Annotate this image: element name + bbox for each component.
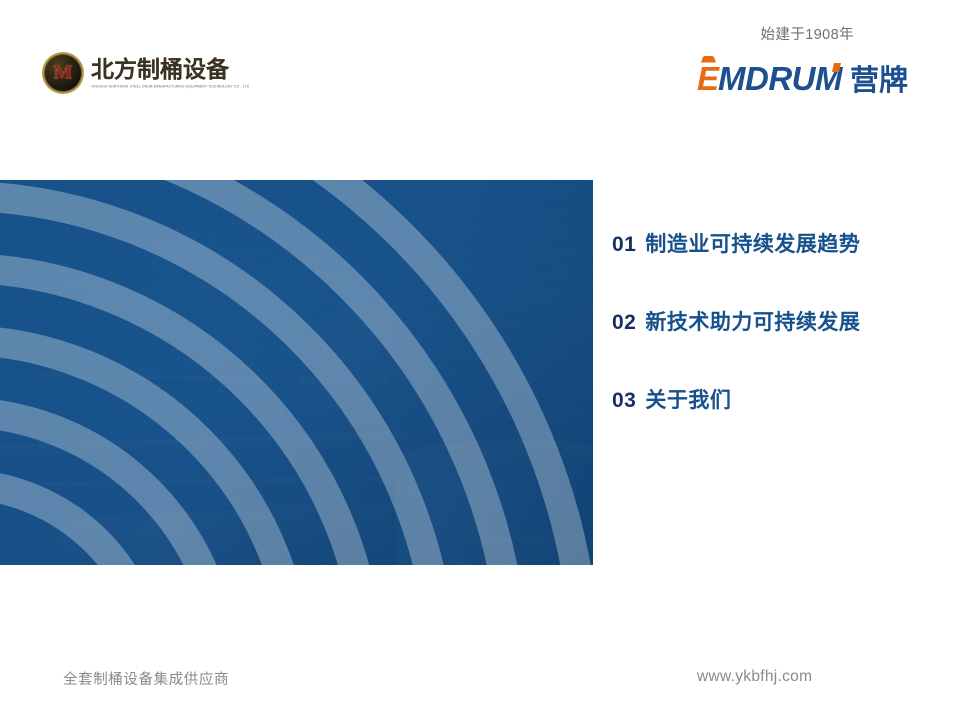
founded-tagline: 始建于1908年 [697,28,854,43]
north-drum-logo: 北方制桶设备 YINGKOU NORTHERN STEEL DRUM MANUF… [44,54,249,92]
agenda-number: 02 [612,311,636,335]
agenda-number: 01 [612,233,636,257]
agenda-number: 03 [612,389,636,413]
agenda-item-03[interactable]: 03 关于我们 [612,384,942,414]
emdrum-letter-m: M [815,62,842,95]
concentric-arcs-graphic [0,180,593,565]
emdrum-letters-mdru: MDRU [718,62,815,95]
slide-header: 北方制桶设备 YINGKOU NORTHERN STEEL DRUM MANUF… [0,0,960,125]
agenda-item-02[interactable]: 02 新技术助力可持续发展 [612,306,942,336]
north-drum-logo-text: 北方制桶设备 YINGKOU NORTHERN STEEL DRUM MANUF… [91,58,249,88]
north-drum-name-en: YINGKOU NORTHERN STEEL DRUM MANUFACTURIN… [91,84,249,89]
footer-slogan: 全套制桶设备集成供应商 [63,668,229,689]
agenda-label: 关于我们 [645,384,731,414]
drum-cap-icon [701,56,716,63]
agenda-label: 制造业可持续发展趋势 [645,228,860,258]
agenda-item-01[interactable]: 01 制造业可持续发展趋势 [612,228,942,258]
footer-website[interactable]: www.ykbfhj.com [697,668,812,686]
emdrum-name-cn: 营牌 [850,66,908,95]
north-drum-name-cn: 北方制桶设备 [91,58,249,82]
emdrum-logo: E MDRU M 营牌 [697,56,908,95]
emdrum-letter-e: E [697,56,718,95]
agenda-list: 01 制造业可持续发展趋势 02 新技术助力可持续发展 03 关于我们 [612,228,942,462]
seal-emblem-icon [44,54,82,92]
cover-image-panel: SINCE 1908 110年钢桶生产经验 70年钢桶设备生产经验 目录 [0,180,593,565]
emdrum-logo-block: 始建于1908年 E MDRU M 营牌 [697,28,908,95]
agenda-label: 新技术助力可持续发展 [645,306,860,336]
